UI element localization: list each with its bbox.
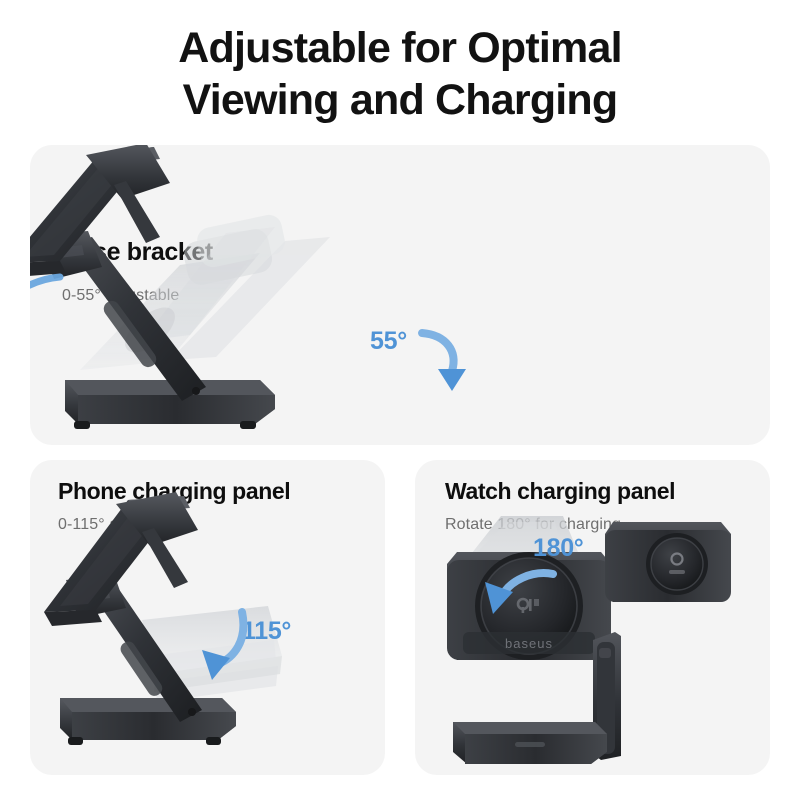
base-angle-label: 55°: [370, 327, 407, 356]
watch-panel-illustration: baseus: [415, 460, 770, 775]
stand-base-slab: [453, 722, 607, 764]
watch-angle-label: 180°: [533, 534, 584, 563]
page-title: Adjustable for Optimal Viewing and Charg…: [0, 22, 800, 127]
stand-base-slab: [60, 698, 236, 745]
card-phone-charging-panel: Phone charging panel 0-115° adjustable: [30, 460, 385, 775]
curved-arrow-down-icon: [412, 325, 472, 395]
stand-base-slab: [65, 380, 275, 429]
card-watch-charging-panel: Watch charging panel Rotate 180° for cha…: [415, 460, 770, 775]
base-bracket-illustration: [30, 145, 770, 445]
curved-arrow-rotate-icon: [471, 564, 563, 630]
brand-logo-text: baseus: [505, 636, 553, 651]
curved-arrow-down-left-icon: [188, 600, 260, 686]
page-title-line-2: Viewing and Charging: [0, 74, 800, 126]
curved-arrow-down-icon: [30, 277, 60, 341]
watch-charging-puck-wing: [605, 522, 731, 602]
card-base-bracket: Base bracket 0-55° adjustable: [30, 145, 770, 445]
page-title-line-1: Adjustable for Optimal: [0, 22, 800, 74]
